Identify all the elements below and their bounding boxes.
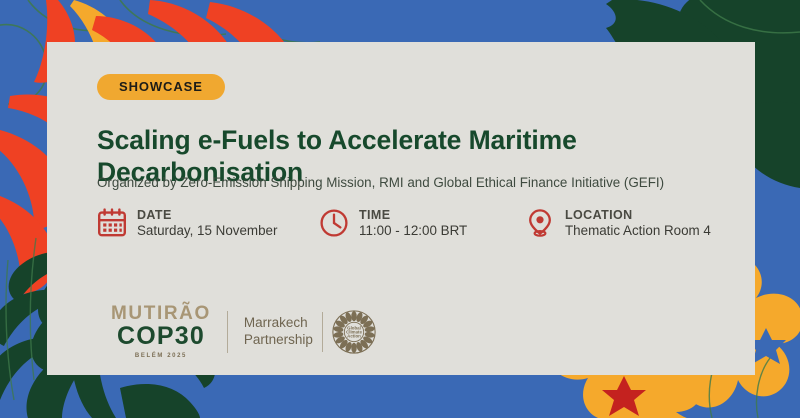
global-climate-action-emblem: Global Climate Action	[332, 310, 376, 354]
cop30-name-text: COP30	[117, 324, 205, 349]
event-date-label: DATE	[137, 209, 277, 222]
event-location-label: LOCATION	[565, 209, 711, 222]
event-date-item: DATE Saturday, 15 November	[97, 208, 277, 238]
event-card: SHOWCASE Scaling e-Fuels to Accelerate M…	[47, 42, 755, 375]
showcase-badge: SHOWCASE	[97, 74, 225, 100]
logo-row: MUTIRÃO COP30 BELÉM 2025 Marrakech Partn…	[111, 304, 376, 359]
event-location-item: LOCATION Thematic Action Room 4	[525, 208, 711, 238]
event-time-label: TIME	[359, 209, 467, 222]
cop30-place-text: BELÉM 2025	[135, 353, 187, 359]
clock-icon	[319, 208, 349, 238]
marrakech-line-2: Partnership	[244, 332, 313, 349]
marrakech-partnership-text: Marrakech Partnership	[244, 315, 313, 349]
logo-divider	[227, 311, 228, 353]
marrakech-partnership-logo: Marrakech Partnership	[244, 310, 376, 354]
marrakech-divider	[322, 312, 323, 352]
event-details-row: DATE Saturday, 15 November TIME 11:00 - …	[97, 208, 757, 254]
marrakech-line-1: Marrakech	[244, 315, 313, 332]
event-location-value: Thematic Action Room 4	[565, 224, 711, 237]
event-time-value: 11:00 - 12:00 BRT	[359, 224, 467, 237]
event-date-value: Saturday, 15 November	[137, 224, 277, 237]
event-organizer: Organized by Zero-Emission Shipping Miss…	[97, 174, 757, 191]
cop30-mutirao-text: MUTIRÃO	[111, 304, 211, 323]
gca-line-3: Action	[347, 333, 361, 338]
event-poster: SHOWCASE Scaling e-Fuels to Accelerate M…	[0, 0, 800, 418]
event-time-item: TIME 11:00 - 12:00 BRT	[319, 208, 467, 238]
calendar-icon	[97, 208, 127, 238]
cop30-logo: MUTIRÃO COP30 BELÉM 2025	[111, 304, 211, 359]
location-pin-icon	[525, 208, 555, 238]
